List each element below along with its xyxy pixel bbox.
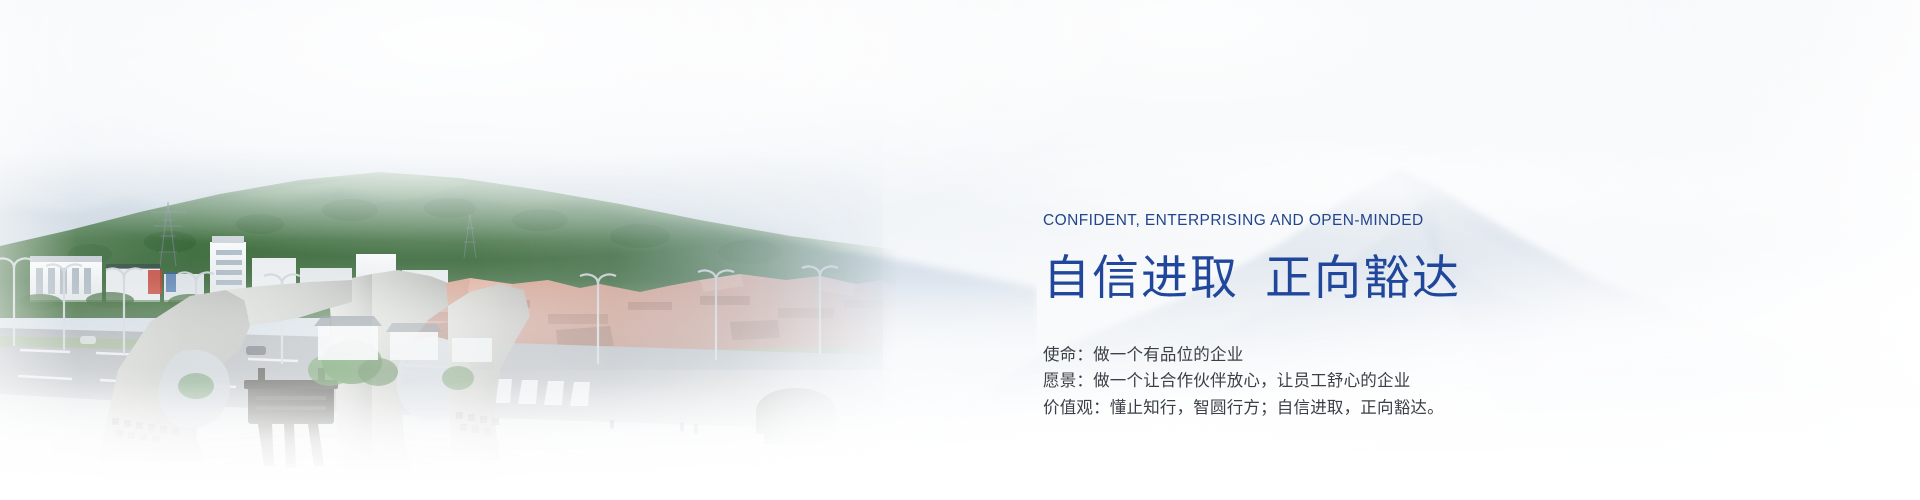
mist-wisp-lower (77, 260, 730, 390)
corporate-culture-banner: CONFIDENT, ENTERPRISING AND OPEN-MINDED … (0, 0, 1920, 500)
values-line: 价值观：懂止知行，智圆行方；自信进取，正向豁达。 (1043, 395, 1803, 422)
mission-vision-values-list: 使命：做一个有品位的企业 愿景：做一个让合作伙伴放心，让员工舒心的企业 价值观：… (1043, 342, 1803, 422)
banner-text-block: CONFIDENT, ENTERPRISING AND OPEN-MINDED … (1043, 213, 1803, 421)
banner-eyebrow: CONFIDENT, ENTERPRISING AND OPEN-MINDED (1043, 213, 1803, 229)
headline-right: 正向豁达 (1265, 251, 1461, 306)
vision-line: 愿景：做一个让合作伙伴放心，让员工舒心的企业 (1043, 368, 1803, 395)
mission-line: 使命：做一个有品位的企业 (1043, 342, 1803, 369)
headline-left: 自信进取 (1043, 251, 1239, 306)
page-title: 自信进取正向豁达 (1043, 255, 1803, 302)
